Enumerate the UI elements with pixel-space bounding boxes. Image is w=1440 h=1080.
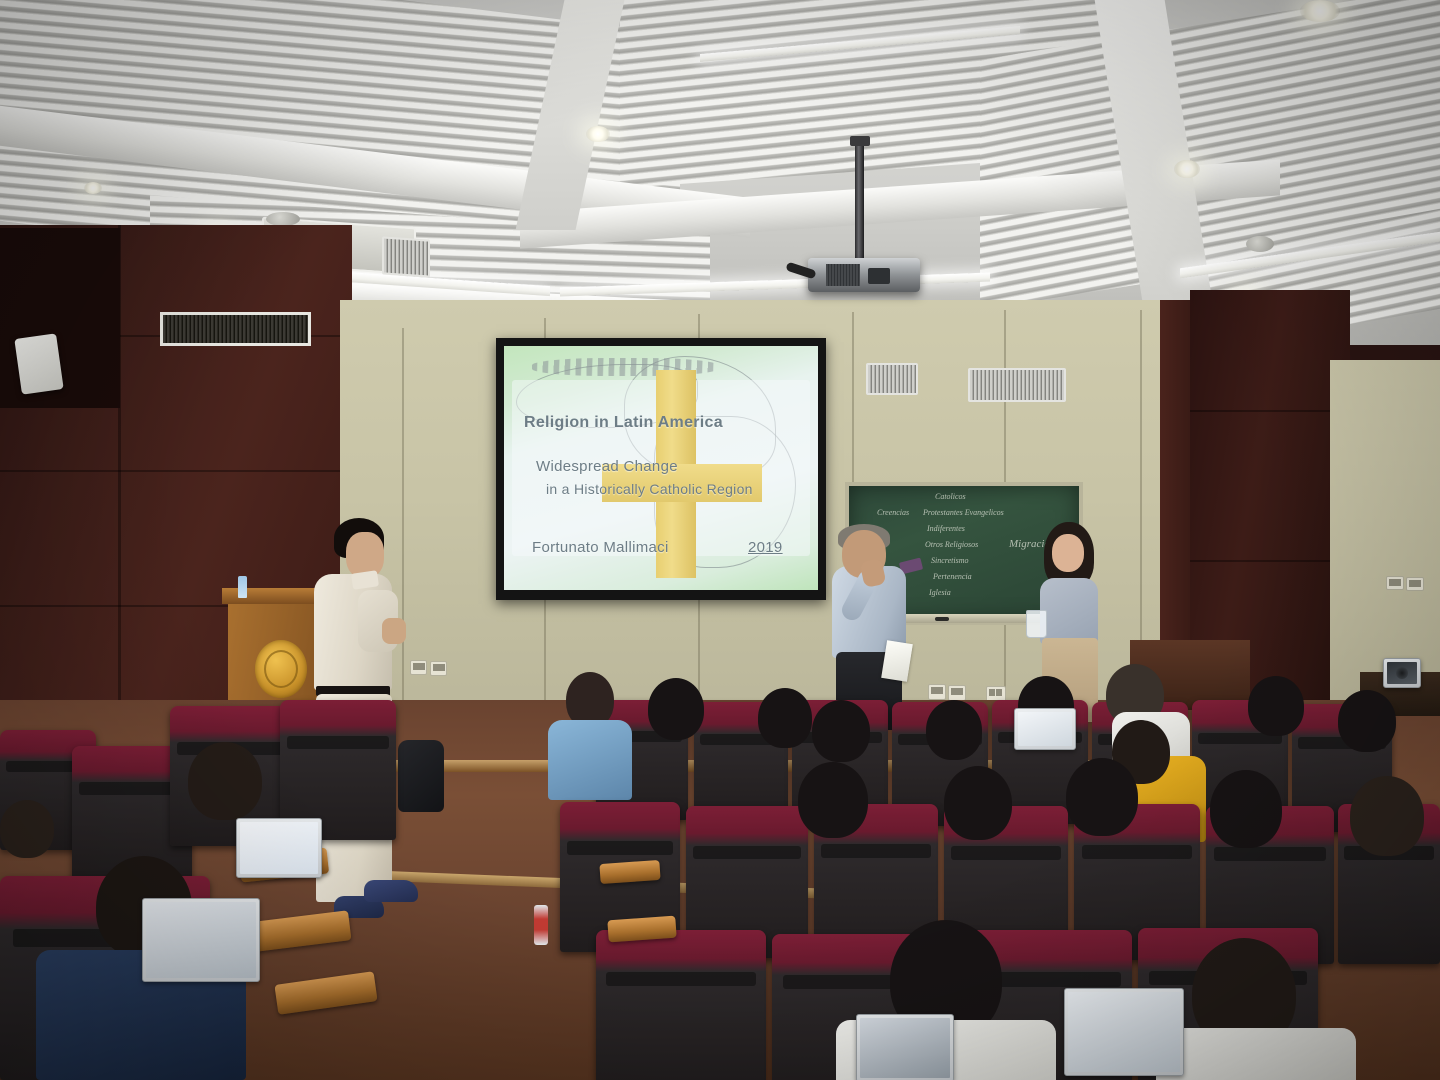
chalk-stick[interactable] xyxy=(935,617,949,621)
audience-head-14 xyxy=(1350,776,1424,856)
cup-in-hand[interactable] xyxy=(1026,610,1047,638)
slide-canvas: Religion in Latin America Widespread Cha… xyxy=(504,346,818,590)
downlight-4 xyxy=(1300,0,1340,22)
audience-head-9 xyxy=(1338,690,1396,752)
laptop-left-1[interactable] xyxy=(236,818,320,876)
audience-head-left-1 xyxy=(0,800,54,858)
laptop-front-right[interactable] xyxy=(1064,988,1182,1074)
speaker-papers xyxy=(881,640,913,682)
wall-vent-large xyxy=(968,368,1066,402)
laptop-on-side-desk[interactable] xyxy=(1383,658,1419,686)
laptop-left-2[interactable] xyxy=(142,898,258,980)
power-outlet-right[interactable] xyxy=(1386,576,1404,590)
tablet-arm-center-1 xyxy=(599,860,660,884)
audience-head-12 xyxy=(1066,758,1138,836)
slide-subtitle-line2: in a Historically Catholic Region xyxy=(546,481,753,497)
seat-row3-a[interactable] xyxy=(596,930,766,1080)
audience-head-3 xyxy=(758,688,812,748)
audience-head-11 xyxy=(944,766,1012,840)
water-bottle-on-podium[interactable] xyxy=(238,576,247,598)
audience-head-8 xyxy=(1248,676,1304,736)
slide-year: 2019 xyxy=(748,539,783,556)
chalk-line-3: Otros Religiosos xyxy=(925,540,978,549)
projection-screen: Religion in Latin America Widespread Cha… xyxy=(496,338,826,600)
power-outlet-center-2[interactable] xyxy=(948,685,966,701)
audience-head-5 xyxy=(926,700,982,760)
audience-head-10 xyxy=(798,762,868,838)
floor-drink-bottle[interactable] xyxy=(534,905,548,945)
projector xyxy=(808,258,920,292)
speaker xyxy=(822,524,932,729)
chalk-line-6: Iglesia xyxy=(929,588,951,597)
wall-grille-left xyxy=(160,312,311,346)
projector-ceiling-plate xyxy=(850,136,870,146)
chalk-line-4: Sincretismo xyxy=(931,556,968,565)
slide-subtitle-line1: Widespread Change xyxy=(536,458,678,475)
laptop-front-center[interactable] xyxy=(856,1014,952,1080)
downlight-1 xyxy=(586,126,610,142)
light-switch-right[interactable] xyxy=(1406,577,1424,591)
chalk-line-1: Protestantes Evangelicos xyxy=(923,508,1004,517)
audience-head-13 xyxy=(1210,770,1282,848)
downlight-2 xyxy=(1174,160,1200,178)
smoke-detector xyxy=(266,212,300,226)
audience-head-left-3 xyxy=(188,742,262,820)
wall-vent-small xyxy=(866,363,918,395)
projector-lens xyxy=(868,268,890,284)
audience-head-4 xyxy=(812,700,870,762)
downlight-6 xyxy=(84,182,102,194)
power-outlet-left-2[interactable] xyxy=(430,661,447,676)
audience-body-front-white-2 xyxy=(1156,1028,1356,1080)
audience-head-2 xyxy=(648,678,704,740)
tablet-arm-center-2 xyxy=(607,916,676,943)
projector-mount-pole xyxy=(855,140,864,258)
chalk-line-5: Pertenencia xyxy=(933,572,972,581)
ceiling-ac-vent-b xyxy=(382,236,430,277)
projector-vent xyxy=(826,264,860,286)
sprinkler-head xyxy=(1246,236,1274,252)
wall-speaker xyxy=(14,333,63,394)
chalk-line-2: Indiferentes xyxy=(927,524,965,533)
audience-body-1 xyxy=(548,720,632,800)
slide-author: Fortunato Mallimaci xyxy=(532,539,669,556)
lecture-hall-photo: Religion in Latin America Widespread Cha… xyxy=(0,0,1440,1080)
slide-title: Religion in Latin America xyxy=(524,414,723,432)
chalk-line-0: Catolicos xyxy=(935,492,966,501)
laptop-mid-right[interactable] xyxy=(1014,708,1074,748)
chalk-line-7: Creencias xyxy=(877,508,909,517)
